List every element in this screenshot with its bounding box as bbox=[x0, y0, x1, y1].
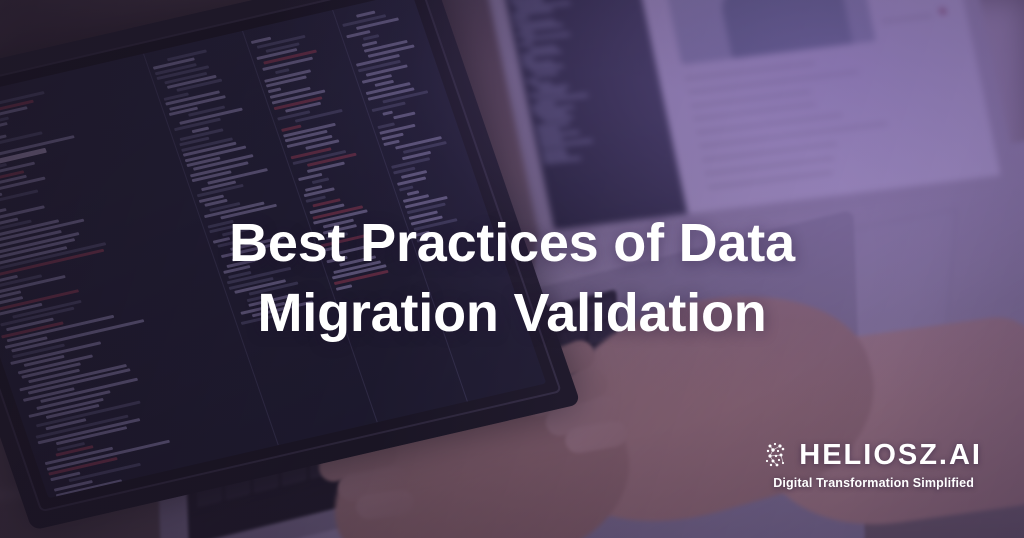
logo-tagline: Digital Transformation Simplified bbox=[773, 476, 974, 490]
blog-banner: Best Practices of Data Migration Validat… bbox=[0, 0, 1024, 538]
logo-row: HELIOSZ.AI bbox=[765, 440, 982, 470]
title-line-1: Best Practices of Data bbox=[90, 208, 934, 278]
dotted-network-node-icon bbox=[765, 440, 795, 470]
page-title: Best Practices of Data Migration Validat… bbox=[0, 208, 1024, 348]
logo-wordmark: HELIOSZ.AI bbox=[799, 441, 982, 470]
brand-logo[interactable]: HELIOSZ.AI Digital Transformation Simpli… bbox=[765, 440, 982, 490]
title-line-2: Migration Validation bbox=[90, 278, 934, 348]
banner-content: Best Practices of Data Migration Validat… bbox=[0, 0, 1024, 538]
